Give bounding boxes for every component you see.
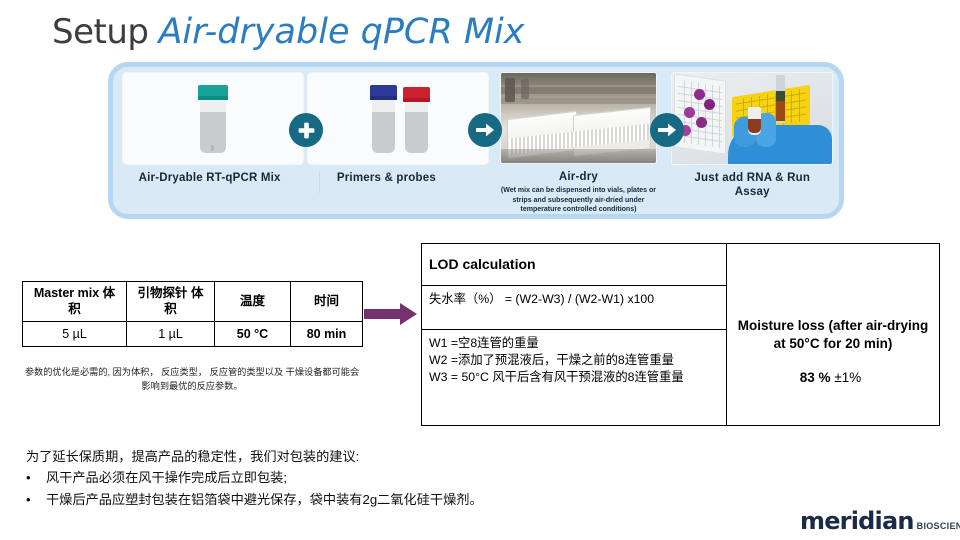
step-4-label: Just add RNA & Run Assay [677,171,827,200]
lod-header-row: LOD calculation Moisture loss (after air… [422,244,940,286]
step-1-card [123,73,303,164]
recommendation-intro: 为了延长保质期，提高产品的稳定性，我们对包装的建议: [26,446,666,467]
page-title: Setup Air-dryable qPCR Mix [52,12,524,52]
moisture-loss-value: 83 % ±1% [728,370,933,385]
lod-calculation-header: LOD calculation [422,244,727,286]
step-1-label: Air-Dryable RT-qPCR Mix [133,171,293,185]
title-prefix: Setup [52,12,148,52]
col-header-primer-probe: 引物探针 体积 [127,282,215,322]
workflow-step-3: Air-dry (Wet mix can be dispensed into v… [491,67,665,214]
step-4-card [672,73,832,164]
meridian-bioscience-logo: meridian BIOSCIENCE® [800,507,960,535]
bullet-marker: • [26,489,46,510]
packaging-recommendations: 为了延长保质期，提高产品的稳定性，我们对包装的建议: • 风干产品必须在风干操作… [26,446,666,510]
single-tube-icon [198,85,228,153]
cell-master-mix-volume: 5 µL [23,322,127,347]
workflow-step-2: Primers & probes [304,67,491,214]
cell-time: 80 min [291,322,363,347]
step-2-card [308,73,488,164]
list-item: • 风干产品必须在风干操作完成后立即包装; [26,467,666,488]
purple-arrow [364,302,418,331]
workflow-step-1: Air-Dryable RT-qPCR Mix [113,67,304,214]
step-2-label: Primers & probes [333,171,463,185]
table-row: 5 µL 1 µL 50 °C 80 min [23,322,363,347]
moisture-value-number: 83 % [800,370,831,385]
plus-icon [289,113,323,147]
arrow-right-icon-1 [468,113,502,147]
lod-formula-cell: 失水率（%） = (W2-W3) / (W2-W1) x100 [422,286,727,330]
definition-w3: W3 = 50°C 风干后含有风干预混液的8连管重量 [429,369,719,386]
recommendation-2: 干燥后产品应塑封包装在铝箔袋中避光保存，袋中装有2g二氧化硅干燥剂。 [46,489,483,510]
list-item: • 干燥后产品应塑封包装在铝箔袋中避光保存，袋中装有2g二氧化硅干燥剂。 [26,489,666,510]
title-main: Air-dryable qPCR Mix [158,12,524,52]
cell-primer-probe-volume: 1 µL [127,322,215,347]
pcr-plates-photo [501,73,656,163]
step-3-label: Air-dry [559,170,598,184]
bullet-marker: • [26,467,46,488]
arrow-right-icon-2 [650,113,684,147]
table-header-row: Master mix 体积 引物探针 体积 温度 时间 [23,282,363,322]
recommendation-1: 风干产品必须在风干操作完成后立即包装; [46,467,287,488]
definition-w1: W1 =空8连管的重量 [429,335,719,352]
workflow-steps-row: Air-Dryable RT-qPCR Mix [113,67,839,214]
slide-canvas: Setup Air-dryable qPCR Mix Air-Dryable R… [0,0,960,540]
logo-brand: meridian [800,507,914,535]
step-3-sublabel: (Wet mix can be dispensed into vials, pl… [491,186,665,214]
workflow-banner: Air-Dryable RT-qPCR Mix [108,62,844,219]
pipetting-photo [672,73,832,164]
parameters-note: 参数的优化是必需的, 因为体积， 反应类型， 反应管的类型以及 干燥设备都可能会… [22,366,362,394]
step-3-card [501,73,656,163]
lod-definitions-cell: W1 =空8连管的重量 W2 =添加了预混液后，干燥之前的8连管重量 W3 = … [422,330,727,426]
cell-temperature: 50 °C [215,322,291,347]
moisture-loss-header: Moisture loss (after air-drying at 50°C … [727,244,940,426]
parameters-table: Master mix 体积 引物探针 体积 温度 时间 5 µL 1 µL 50… [22,281,363,347]
definition-w2: W2 =添加了预混液后，干燥之前的8连管重量 [429,352,719,369]
logo-subbrand: BIOSCIENCE® [917,521,960,531]
col-header-time: 时间 [291,282,363,322]
lod-calculation-table: LOD calculation Moisture loss (after air… [421,243,940,426]
two-tubes-icon [370,85,434,153]
col-header-master-mix: Master mix 体积 [23,282,127,322]
col-header-temperature: 温度 [215,282,291,322]
workflow-step-4: Just add RNA & Run Assay [665,67,839,214]
moisture-value-tolerance: ±1% [834,370,861,385]
